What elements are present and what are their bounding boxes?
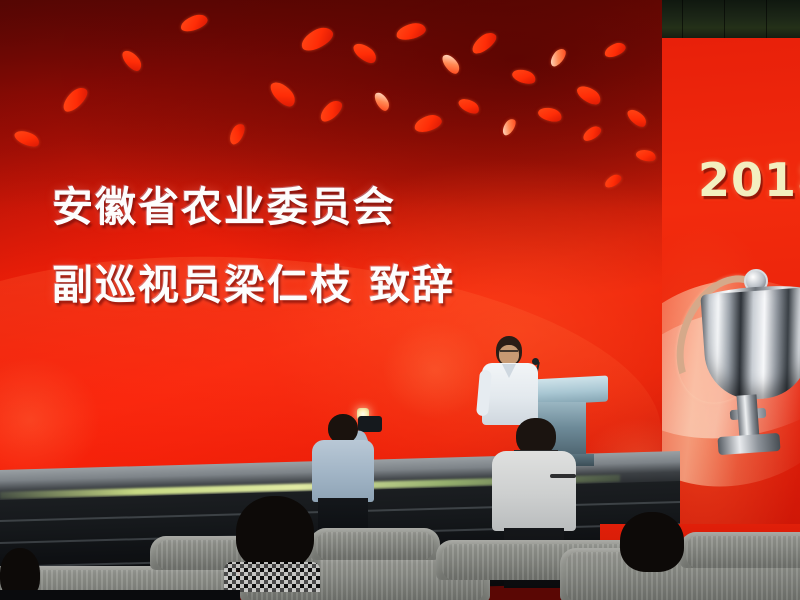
photographer xyxy=(310,408,390,548)
headline-line-2: 副巡视员梁仁枝 致辞 xyxy=(52,254,592,316)
headline-line-1: 安徽省农业委员会 xyxy=(52,176,592,238)
foreground-shadow xyxy=(0,590,240,600)
photo-scene: 安徽省农业委员会 副巡视员梁仁枝 致辞 2018 18 "安 xyxy=(0,0,800,600)
audience-head-right xyxy=(620,512,684,572)
side-panel: 2018 xyxy=(662,38,800,524)
trophy-icon xyxy=(682,263,800,483)
seat-row2-mid xyxy=(310,528,440,560)
audience-checkered-shirt xyxy=(224,562,320,592)
year-text: 2018 xyxy=(698,153,800,207)
led-headline: 安徽省农业委员会 副巡视员梁仁枝 致辞 xyxy=(52,176,592,317)
audience-head-left xyxy=(236,496,314,570)
seat-row2-far-right xyxy=(680,532,800,568)
